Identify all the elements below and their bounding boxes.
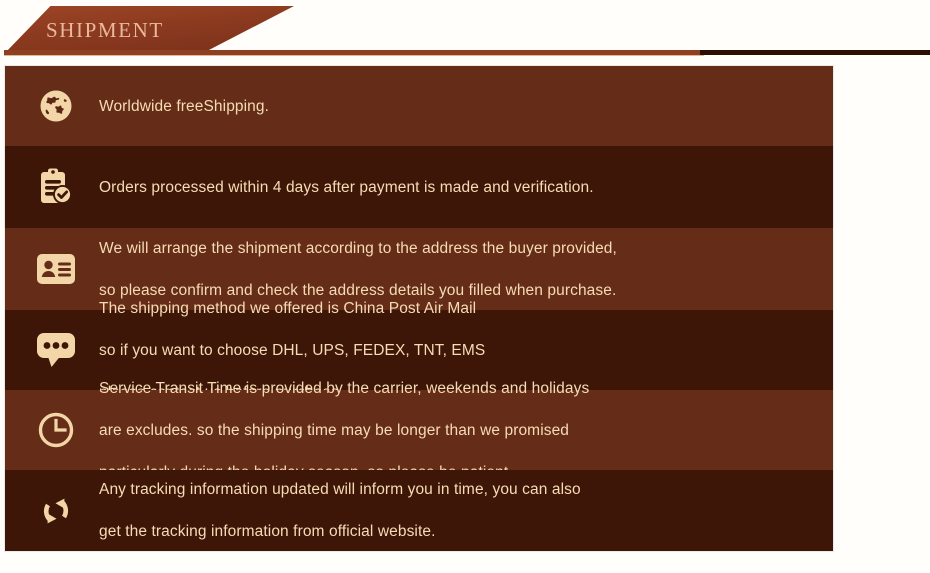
text-line: Orders processed within 4 days after pay… [99,177,833,198]
text-line: get the tracking information from offici… [99,521,833,542]
text-line: Service Transit Time is provided by the … [99,378,833,399]
list-item-text: Orders processed within 4 days after pay… [87,156,833,219]
list-item-text: Worldwide freeShipping. [87,75,833,138]
text-line: The shipping method we offered is China … [99,298,833,319]
list-item: Any tracking information updated will in… [5,470,833,551]
list-item-text: Any tracking information updated will in… [87,458,833,563]
id-card-icon [25,243,87,295]
clock-icon [25,404,87,456]
text-line: We will arrange the shipment according t… [99,238,833,259]
text-line: are excludes. so the shipping time may b… [99,420,833,441]
header-divider-dark [700,50,930,55]
text-line: Worldwide freeShipping. [99,96,833,117]
speech-bubble-icon [25,324,87,376]
page-title: SHIPMENT [46,18,164,43]
header-banner: SHIPMENT [0,0,930,60]
clipboard-check-icon [25,161,87,213]
header-divider-hairline [4,55,704,56]
refresh-icon [25,485,87,537]
globe-icon [25,80,87,132]
shipment-info-panel: Worldwide freeShipping. Orders processed… [5,66,833,551]
text-line: Any tracking information updated will in… [99,479,833,500]
list-item: Worldwide freeShipping. [5,66,833,146]
